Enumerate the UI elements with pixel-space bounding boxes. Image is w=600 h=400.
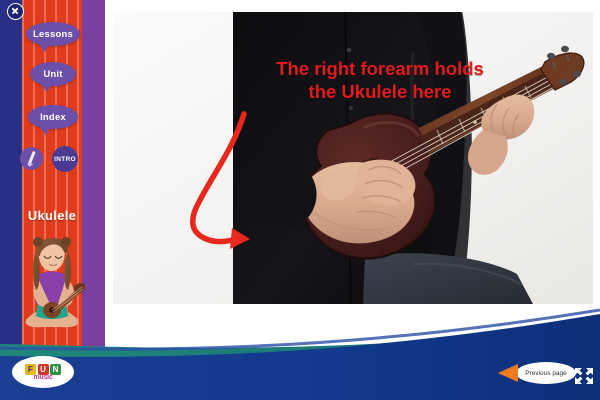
logo-word: music [33, 374, 52, 381]
lesson-photo [113, 12, 593, 304]
sidebar: Lessons Unit Index INTRO Ukulele [0, 0, 105, 348]
sidebar-item-label: Index [40, 112, 66, 123]
previous-page-tooltip: Previous page [516, 362, 576, 384]
footer-bar [0, 300, 600, 400]
close-icon[interactable] [7, 3, 24, 20]
pencil-icon[interactable] [20, 147, 43, 170]
sidebar-item-lessons[interactable]: Lessons [26, 22, 80, 46]
app-window: The right forearm holds the Ukulele here… [0, 0, 600, 400]
sidebar-item-unit[interactable]: Unit [30, 62, 76, 86]
sidebar-item-index[interactable]: Index [28, 105, 78, 129]
fun-music-logo[interactable]: F U N music [12, 356, 74, 388]
ukulele-photo-illustration [113, 12, 593, 304]
arrow-left-icon [498, 364, 518, 382]
sidebar-item-label: Lessons [33, 29, 73, 40]
pencil-tip [26, 162, 33, 168]
content-area: The right forearm holds the Ukulele here [105, 0, 600, 340]
page-title: Ukulele [22, 208, 82, 223]
sidebar-item-label: Unit [43, 69, 62, 80]
fullscreen-icon[interactable] [574, 367, 594, 385]
previous-page-label: Previous page [525, 370, 567, 377]
intro-badge-label: INTRO [54, 156, 76, 163]
intro-badge[interactable]: INTRO [52, 146, 78, 172]
